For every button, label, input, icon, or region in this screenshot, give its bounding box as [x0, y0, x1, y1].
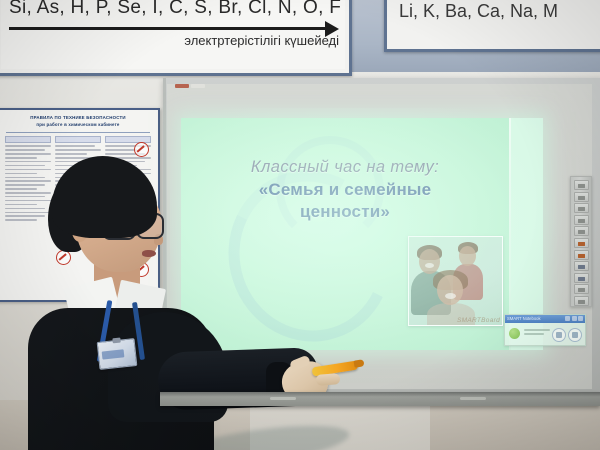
toolbar-button-line[interactable] — [574, 226, 589, 236]
badge-photo-strip — [102, 349, 125, 359]
photo-person-head — [459, 246, 476, 266]
id-badge — [97, 338, 138, 370]
status-indicator-icon — [509, 328, 520, 339]
toolbar-button-undo[interactable] — [574, 261, 589, 271]
widget-title-text: SMART Notebook — [507, 316, 541, 321]
hair — [52, 156, 157, 238]
capture-button[interactable] — [552, 328, 566, 342]
mouth — [142, 250, 156, 257]
maximize-icon[interactable] — [572, 316, 577, 321]
safety-column-header — [5, 136, 51, 143]
toolbar-button-shape[interactable] — [574, 215, 589, 225]
index-finger — [316, 373, 341, 386]
toolbar-button-color[interactable] — [574, 250, 589, 260]
toolbar-button-highlighter[interactable] — [574, 238, 589, 248]
toolbar-button-keyboard[interactable] — [574, 284, 589, 294]
metal-activity-series: Li, K, Ba, Ca, Na, M — [399, 1, 558, 22]
badge-clip-icon — [112, 338, 120, 344]
electronegativity-series: Si, As, H, P, Se, I, C, S, Br, Cl, N, O,… — [9, 0, 341, 19]
poster-metal-activity: Li, K, Ba, Ca, Na, M — [384, 0, 600, 52]
safety-title-line2: при работе в химическом кабинете — [4, 122, 152, 129]
marker-white-icon[interactable] — [191, 84, 205, 88]
arrow-line-icon — [9, 27, 327, 30]
safety-poster-title: ПРАВИЛА ПО ТЕХНИКЕ БЕЗОПАСНОСТИ при рабо… — [4, 115, 152, 128]
toolbar-button-eraser[interactable] — [574, 203, 589, 213]
photo-smile — [445, 293, 456, 299]
safety-column-header — [55, 136, 101, 143]
classroom-screenshot: Si, As, H, P, Se, I, C, S, Br, Cl, N, O,… — [0, 0, 600, 450]
poster-electronegativity: Si, As, H, P, Se, I, C, S, Br, Cl, N, O,… — [0, 0, 352, 76]
widget-window-controls[interactable] — [565, 316, 583, 321]
photo-watermark: SMARTBoard — [457, 317, 500, 324]
photo-smile — [425, 263, 434, 268]
widget-title-bar[interactable]: SMART Notebook — [505, 315, 585, 323]
minimize-icon[interactable] — [565, 316, 570, 321]
tray-slot[interactable] — [270, 397, 296, 400]
widget-labels — [524, 329, 550, 337]
close-icon[interactable] — [578, 316, 583, 321]
settings-button[interactable] — [568, 328, 582, 342]
safety-title-line1: ПРАВИЛА ПО ТЕХНИКЕ БЕЗОПАСНОСТИ — [4, 115, 152, 122]
whiteboard-pen-tray[interactable] — [160, 392, 600, 406]
marker-red-icon[interactable] — [175, 84, 189, 88]
electronegativity-caption: электртерістілігі күшейеді — [1, 33, 339, 48]
toolbar-button-pen[interactable] — [574, 192, 589, 202]
safety-divider — [6, 132, 150, 133]
toolbar-button-redo[interactable] — [574, 273, 589, 283]
tray-slot[interactable] — [460, 397, 486, 400]
toolbar-button-more[interactable] — [574, 296, 589, 306]
photo-person-head — [419, 249, 440, 274]
family-photo[interactable]: SMARTBoard — [408, 236, 503, 326]
photo-person-head — [437, 275, 463, 305]
poster-electronegativity-inner: Si, As, H, P, Se, I, C, S, Br, Cl, N, O,… — [1, 0, 345, 69]
smart-notebook-widget[interactable]: SMART Notebook — [504, 314, 586, 346]
toolbar-button-select[interactable] — [574, 180, 589, 190]
pen-tray-toolbar[interactable] — [570, 176, 592, 307]
